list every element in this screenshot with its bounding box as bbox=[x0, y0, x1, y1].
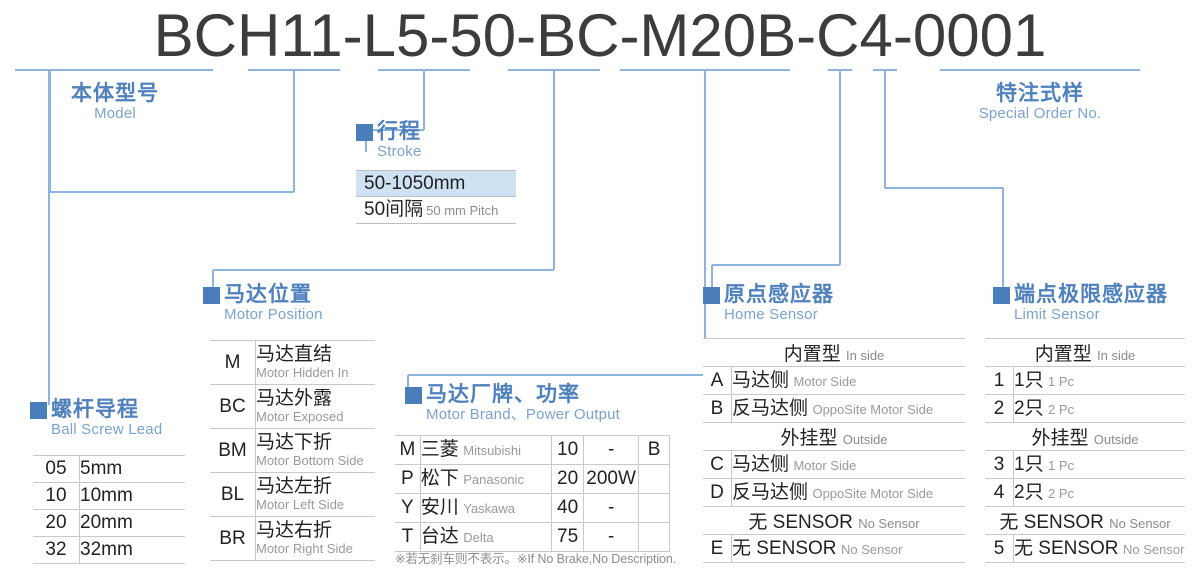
section-stroke: 行程 Stroke bbox=[356, 120, 422, 161]
sensor-value: 2只 2 Pc bbox=[1014, 479, 1186, 507]
section-model-title-en: Model bbox=[94, 105, 136, 123]
sensor-value: 马达侧 Motor Side bbox=[732, 451, 966, 479]
table-row: BR马达右折Motor Right Side bbox=[210, 517, 375, 561]
table-row: BM马达下折Motor Bottom Side bbox=[210, 429, 375, 473]
model-code-segment-1: BCH11 bbox=[154, 1, 343, 70]
limit-sensor-table: 内置型 In side11只 1 Pc22只 2 Pc外挂型 Outside31… bbox=[985, 338, 1185, 563]
motor-brand-name: 松下 Panasonic bbox=[420, 465, 551, 494]
ball-screw-lead-bullet-icon bbox=[30, 402, 47, 419]
motor-position-value: 马达右折Motor Right Side bbox=[256, 517, 376, 561]
sensor-group-title: 内置型 In side bbox=[703, 339, 965, 367]
motor-brand-table: M三菱 Mitsubishi10-BP松下 Panasonic20200WY安川… bbox=[395, 435, 670, 552]
motor-power-value: - bbox=[583, 494, 638, 523]
motor-brand-name: 安川 Yaskawa bbox=[420, 494, 551, 523]
section-model-title-cn: 本体型号 bbox=[71, 82, 159, 105]
stroke-range-row: 50-1050mm bbox=[356, 170, 516, 197]
sensor-group-title: 内置型 In side bbox=[985, 339, 1185, 367]
sensor-group-header: 无 SENSOR No Sensor bbox=[985, 507, 1185, 535]
motor-position-table: M马达直结Motor Hidden InBC马达外露Motor ExposedB… bbox=[210, 340, 375, 561]
sensor-code: B bbox=[703, 395, 732, 423]
model-code-segment-3: 50 bbox=[449, 1, 516, 70]
section-ball-screw-lead: 螺杆导程 Ball Screw Lead bbox=[30, 398, 162, 439]
motor-power-value: 200W bbox=[583, 465, 638, 494]
stroke-pitch-row: 50间隔50 mm Pitch bbox=[356, 197, 516, 224]
section-stroke-title-cn: 行程 bbox=[377, 120, 422, 143]
motor-power-value: - bbox=[583, 436, 638, 465]
table-row: M三菱 Mitsubishi10-B bbox=[395, 436, 670, 465]
sensor-value: 1只 1 Pc bbox=[1014, 367, 1186, 395]
table-row: BL马达左折Motor Left Side bbox=[210, 473, 375, 517]
model-code-segment-5: M20B bbox=[639, 1, 796, 70]
motor-position-value: 马达下折Motor Bottom Side bbox=[256, 429, 376, 473]
motor-position-value: 马达外露Motor Exposed bbox=[256, 385, 376, 429]
motor-brand-code: M bbox=[395, 436, 420, 465]
section-home-sensor: 原点感应器 Home Sensor bbox=[703, 283, 834, 324]
model-code-segment-7: 4 bbox=[860, 1, 893, 70]
spec-diagram: BCH11 - L5 - 50 - BC - M20B - C 4 - 0001 bbox=[0, 0, 1200, 570]
motor-brake-code bbox=[639, 494, 670, 523]
model-code-separator: - bbox=[619, 1, 639, 70]
section-limit-sensor-title-en: Limit Sensor bbox=[1014, 306, 1168, 324]
model-code-separator: - bbox=[516, 1, 536, 70]
sensor-code: E bbox=[703, 535, 732, 563]
motor-brand-footnote: ※若无刹车则不表示。※If No Brake,No Description. bbox=[395, 548, 676, 567]
sensor-group-header: 内置型 In side bbox=[985, 339, 1185, 367]
ball-screw-lead-value: 32mm bbox=[80, 537, 186, 564]
section-motor-position: 马达位置 Motor Position bbox=[203, 283, 323, 324]
stroke-pitch-cn: 50间隔 bbox=[364, 199, 423, 220]
section-home-sensor-title-en: Home Sensor bbox=[724, 306, 834, 324]
motor-position-code: BL bbox=[210, 473, 256, 517]
table-row: 2020mm bbox=[33, 510, 185, 537]
table-row: BC马达外露Motor Exposed bbox=[210, 385, 375, 429]
table-row: C马达侧 Motor Side bbox=[703, 451, 965, 479]
home-sensor-table: 内置型 In sideA马达侧 Motor SideB反马达侧 OppoSite… bbox=[703, 338, 965, 563]
sensor-code: D bbox=[703, 479, 732, 507]
sensor-value: 反马达侧 OppoSite Motor Side bbox=[732, 395, 966, 423]
sensor-code: 4 bbox=[985, 479, 1014, 507]
sensor-value: 马达侧 Motor Side bbox=[732, 367, 966, 395]
sensor-code: 5 bbox=[985, 535, 1014, 563]
sensor-value: 2只 2 Pc bbox=[1014, 395, 1186, 423]
section-ball-screw-lead-title-cn: 螺杆导程 bbox=[51, 398, 162, 421]
table-row: B反马达侧 OppoSite Motor Side bbox=[703, 395, 965, 423]
section-motor-position-title-en: Motor Position bbox=[224, 306, 323, 324]
motor-brake-code bbox=[639, 465, 670, 494]
motor-brand-bullet-icon bbox=[405, 387, 422, 404]
section-motor-brand: 马达厂牌、功率 Motor Brand、Power Output bbox=[405, 383, 620, 424]
ball-screw-lead-code: 20 bbox=[33, 510, 80, 537]
sensor-code: 2 bbox=[985, 395, 1014, 423]
section-limit-sensor-title-cn: 端点极限感应器 bbox=[1014, 283, 1168, 306]
table-row: P松下 Panasonic20200W bbox=[395, 465, 670, 494]
sensor-code: 1 bbox=[985, 367, 1014, 395]
motor-brand-code: Y bbox=[395, 494, 420, 523]
motor-brand-name: 三菱 Mitsubishi bbox=[420, 436, 551, 465]
section-ball-screw-lead-title-en: Ball Screw Lead bbox=[51, 421, 162, 439]
limit-sensor-bullet-icon bbox=[993, 287, 1010, 304]
sensor-group-title: 外挂型 Outside bbox=[985, 423, 1185, 451]
section-stroke-title-en: Stroke bbox=[377, 143, 422, 161]
sensor-group-title: 无 SENSOR No Sensor bbox=[985, 507, 1185, 535]
model-code-separator: - bbox=[796, 1, 816, 70]
model-code-segment-4: BC bbox=[536, 1, 619, 70]
section-model: 本体型号 Model bbox=[15, 82, 215, 123]
model-code-separator: - bbox=[343, 1, 363, 70]
motor-position-code: M bbox=[210, 341, 256, 385]
table-row: 42只 2 Pc bbox=[985, 479, 1185, 507]
sensor-value: 1只 1 Pc bbox=[1014, 451, 1186, 479]
stroke-table: 50-1050mm 50间隔50 mm Pitch bbox=[356, 170, 516, 224]
ball-screw-lead-code: 05 bbox=[33, 456, 80, 483]
motor-position-bullet-icon bbox=[203, 287, 220, 304]
model-code-segment-8: 0001 bbox=[913, 1, 1046, 70]
sensor-value: 无 SENSOR No Sensor bbox=[1014, 535, 1186, 563]
table-row: 5无 SENSOR No Sensor bbox=[985, 535, 1185, 563]
table-row: 31只 1 Pc bbox=[985, 451, 1185, 479]
stroke-pitch-en: 50 mm Pitch bbox=[426, 203, 498, 218]
sensor-value: 反马达侧 OppoSite Motor Side bbox=[732, 479, 966, 507]
motor-brake-code: B bbox=[639, 436, 670, 465]
motor-power-code: 40 bbox=[552, 494, 584, 523]
home-sensor-bullet-icon bbox=[703, 287, 720, 304]
sensor-group-header: 内置型 In side bbox=[703, 339, 965, 367]
motor-power-code: 20 bbox=[552, 465, 584, 494]
section-home-sensor-title-cn: 原点感应器 bbox=[724, 283, 834, 306]
sensor-group-header: 无 SENSOR No Sensor bbox=[703, 507, 965, 535]
sensor-group-title: 无 SENSOR No Sensor bbox=[703, 507, 965, 535]
table-row: M马达直结Motor Hidden In bbox=[210, 341, 375, 385]
model-code-segment-2: L5 bbox=[363, 1, 430, 70]
table-row: 055mm bbox=[33, 456, 185, 483]
motor-position-code: BM bbox=[210, 429, 256, 473]
section-limit-sensor: 端点极限感应器 Limit Sensor bbox=[993, 283, 1168, 324]
model-code-separator: - bbox=[893, 1, 913, 70]
section-motor-position-title-cn: 马达位置 bbox=[224, 283, 323, 306]
motor-position-value: 马达左折Motor Left Side bbox=[256, 473, 376, 517]
model-code-segment-6: C bbox=[816, 1, 859, 70]
ball-screw-lead-value: 10mm bbox=[80, 483, 186, 510]
ball-screw-lead-table: 055mm1010mm2020mm3232mm bbox=[33, 455, 185, 564]
table-row: 1010mm bbox=[33, 483, 185, 510]
table-row: D反马达侧 OppoSite Motor Side bbox=[703, 479, 965, 507]
table-row: 3232mm bbox=[33, 537, 185, 564]
stroke-bullet-icon bbox=[356, 124, 373, 141]
sensor-code: A bbox=[703, 367, 732, 395]
sensor-value: 无 SENSOR No Sensor bbox=[732, 535, 966, 563]
model-code: BCH11 - L5 - 50 - BC - M20B - C 4 - 0001 bbox=[0, 4, 1200, 66]
section-special-order-title-cn: 特注式样 bbox=[996, 82, 1084, 105]
motor-power-code: 10 bbox=[552, 436, 584, 465]
sensor-code: 3 bbox=[985, 451, 1014, 479]
sensor-group-header: 外挂型 Outside bbox=[703, 423, 965, 451]
table-row: A马达侧 Motor Side bbox=[703, 367, 965, 395]
table-row: 11只 1 Pc bbox=[985, 367, 1185, 395]
ball-screw-lead-value: 20mm bbox=[80, 510, 186, 537]
sensor-group-header: 外挂型 Outside bbox=[985, 423, 1185, 451]
ball-screw-lead-value: 5mm bbox=[80, 456, 186, 483]
ball-screw-lead-code: 32 bbox=[33, 537, 80, 564]
section-special-order: 特注式样 Special Order No. bbox=[930, 82, 1150, 123]
section-motor-brand-title-cn: 马达厂牌、功率 bbox=[426, 383, 620, 406]
ball-screw-lead-code: 10 bbox=[33, 483, 80, 510]
motor-position-code: BR bbox=[210, 517, 256, 561]
table-row: 22只 2 Pc bbox=[985, 395, 1185, 423]
table-row: Y安川 Yaskawa40- bbox=[395, 494, 670, 523]
model-code-separator: - bbox=[429, 1, 449, 70]
motor-position-value: 马达直结Motor Hidden In bbox=[256, 341, 376, 385]
section-motor-brand-title-en: Motor Brand、Power Output bbox=[426, 406, 620, 424]
sensor-code: C bbox=[703, 451, 732, 479]
section-special-order-title-en: Special Order No. bbox=[979, 105, 1102, 123]
sensor-group-title: 外挂型 Outside bbox=[703, 423, 965, 451]
motor-brand-code: P bbox=[395, 465, 420, 494]
motor-position-code: BC bbox=[210, 385, 256, 429]
table-row: E无 SENSOR No Sensor bbox=[703, 535, 965, 563]
